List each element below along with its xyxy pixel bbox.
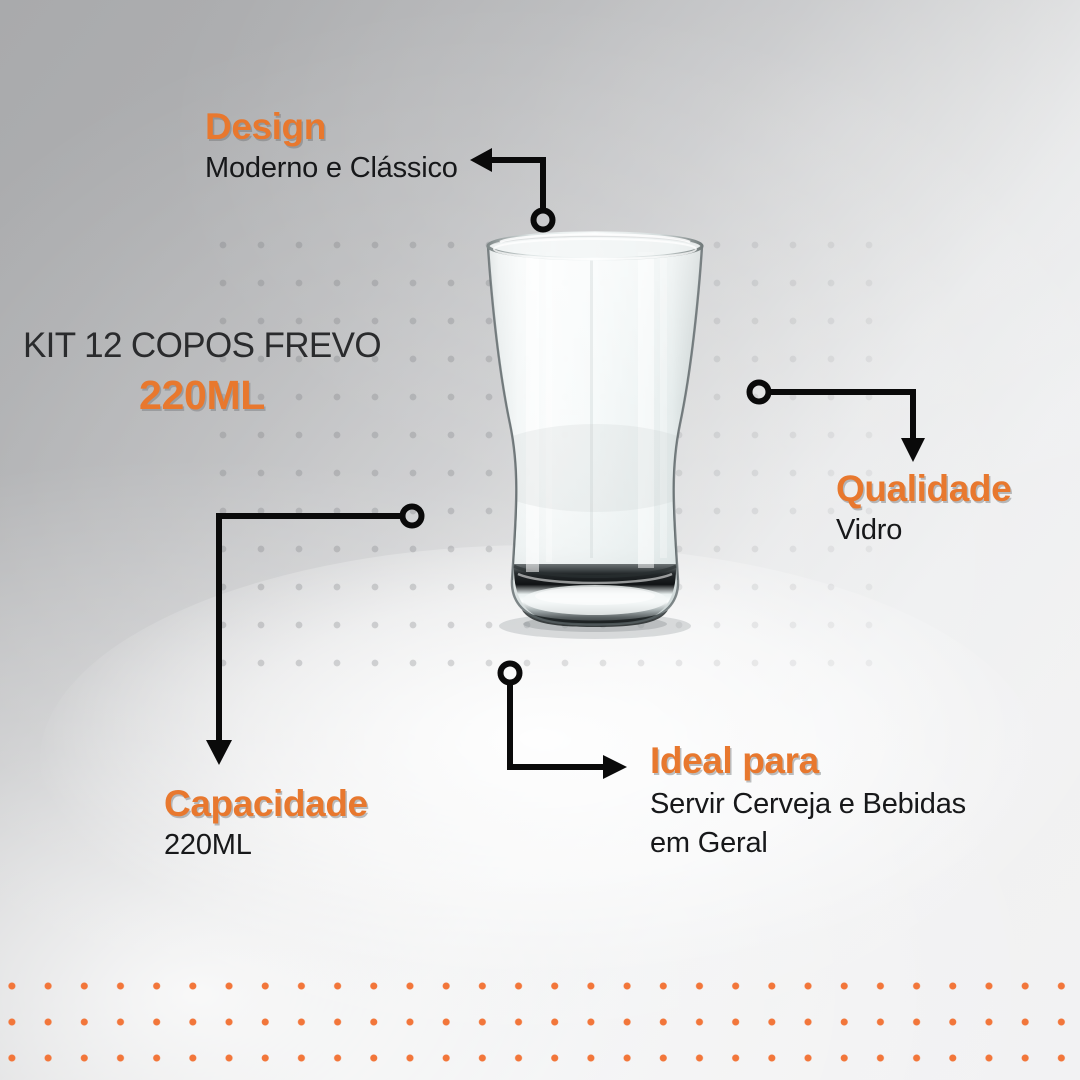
product-headline: KIT 12 COPOS FREVO 220ML [22, 328, 382, 417]
callout-design-title: Design [205, 108, 458, 146]
product-volume: 220ML [22, 374, 382, 417]
product-name: KIT 12 COPOS FREVO [22, 328, 382, 365]
callout-ideal-para-subtitle-line2: em Geral [650, 824, 966, 862]
callout-qualidade-subtitle: Vidro [836, 513, 1011, 548]
callout-ideal-para-title: Ideal para [650, 742, 966, 780]
callout-qualidade-title: Qualidade [836, 470, 1011, 508]
callout-capacidade-title: Capacidade [164, 785, 368, 823]
callout-capacidade-subtitle: 220ML [164, 828, 368, 863]
callout-capacidade: Capacidade 220ML [164, 785, 368, 864]
callout-ideal-para: Ideal para Servir Cerveja e Bebidas em G… [650, 742, 966, 862]
product-image-beer-glass [470, 228, 720, 648]
callout-ideal-para-subtitle-line1: Servir Cerveja e Bebidas [650, 785, 966, 823]
callout-design-subtitle: Moderno e Clássico [205, 151, 458, 186]
orange-dot-pattern [0, 958, 1080, 1080]
callout-qualidade: Qualidade Vidro [836, 470, 1011, 549]
product-infographic: KIT 12 COPOS FREVO 220ML Design Moderno … [0, 0, 1080, 1080]
callout-design: Design Moderno e Clássico [205, 108, 458, 187]
